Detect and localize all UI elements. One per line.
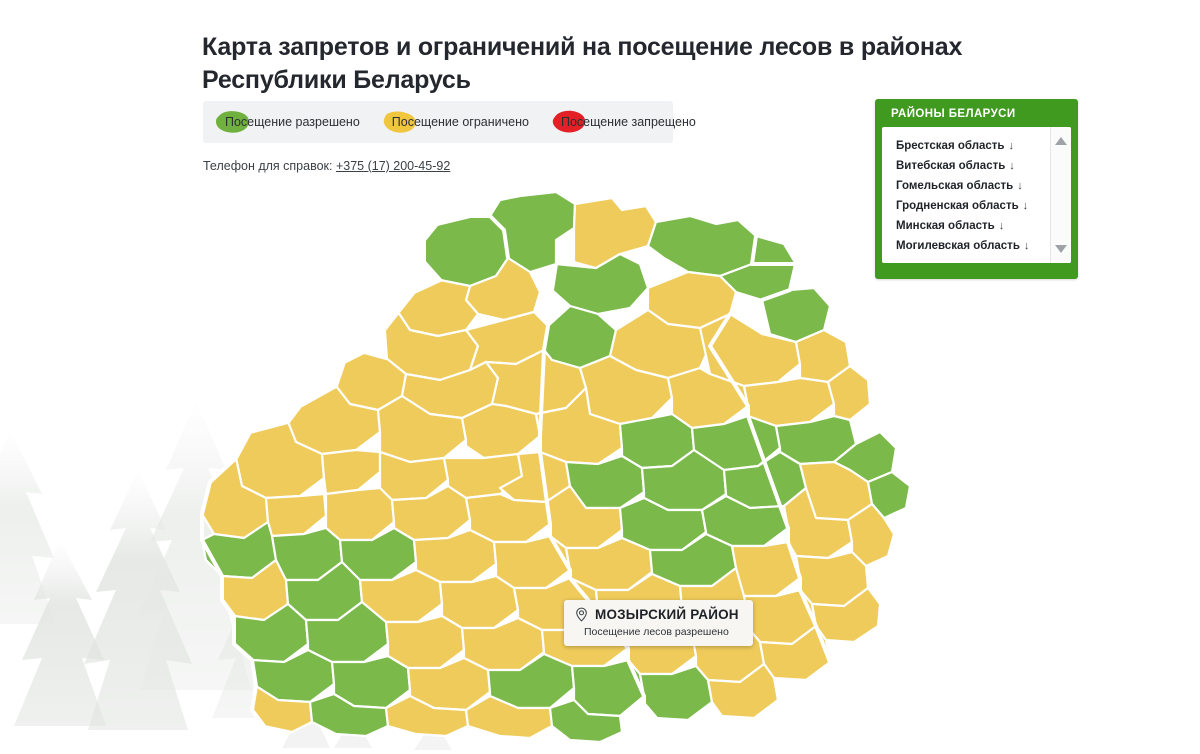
regions-list: Брестская область↓ Витебская область↓ Го… [882, 127, 1071, 256]
legend-item-limited: Посещение ограничено [392, 101, 529, 143]
region-item-minsk[interactable]: Минская область↓ [896, 216, 1071, 236]
contact-phone-link[interactable]: +375 (17) 200-45-92 [336, 159, 450, 173]
legend-panel: Посещение разрешено Посещение ограничено… [203, 101, 673, 143]
chevron-down-icon: ↓ [1024, 240, 1030, 252]
legend-label-forbidden: Посещение запрещено [561, 115, 696, 129]
legend-label-allowed: Посещение разрешено [225, 115, 360, 129]
chevron-down-icon: ↓ [1009, 140, 1015, 152]
page-title: Карта запретов и ограничений на посещени… [202, 31, 1022, 97]
map-district[interactable] [440, 576, 518, 628]
region-item-gomel[interactable]: Гомельская область↓ [896, 176, 1071, 196]
regions-panel-body: Брестская область↓ Витебская область↓ Го… [882, 127, 1071, 263]
region-label-mogilev: Могилевская область [896, 240, 1020, 252]
legend-item-allowed: Посещение разрешено [225, 101, 360, 143]
region-item-brest[interactable]: Брестская область↓ [896, 136, 1071, 156]
chevron-down-icon: ↓ [1009, 160, 1015, 172]
regions-panel: РАЙОНЫ БЕЛАРУСИ Брестская область↓ Витеб… [875, 99, 1078, 279]
chevron-down-icon: ↓ [1017, 180, 1023, 192]
regions-panel-header: РАЙОНЫ БЕЛАРУСИ [882, 99, 1071, 127]
region-label-minsk: Минская область [896, 220, 995, 232]
region-label-grodno: Гродненская область [896, 200, 1019, 212]
chevron-down-icon: ↓ [1023, 200, 1029, 212]
map-pin-icon [574, 607, 589, 622]
contact-phone-prefix: Телефон для справок: [203, 159, 336, 173]
region-item-grodno[interactable]: Гродненская область↓ [896, 196, 1071, 216]
map-district[interactable] [386, 616, 464, 668]
tooltip-title-row: МОЗЫРСКИЙ РАЙОН [574, 607, 739, 622]
map-district[interactable] [322, 450, 380, 494]
scroll-down-arrow-icon[interactable] [1054, 243, 1068, 255]
tooltip-district-name: МОЗЫРСКИЙ РАЙОН [595, 607, 739, 622]
scroll-up-arrow-icon[interactable] [1054, 135, 1068, 147]
legend-item-forbidden: Посещение запрещено [561, 101, 696, 143]
region-item-mogilev[interactable]: Могилевская область↓ [896, 236, 1071, 256]
region-label-gomel: Гомельская область [896, 180, 1013, 192]
map-district[interactable] [462, 404, 540, 458]
chevron-down-icon: ↓ [999, 220, 1005, 232]
region-item-vitebsk[interactable]: Витебская область↓ [896, 156, 1071, 176]
region-label-vitebsk: Витебская область [896, 160, 1005, 172]
contact-phone-line: Телефон для справок: +375 (17) 200-45-92 [203, 159, 450, 173]
forest-restrictions-map-page: Карта запретов и ограничений на посещени… [0, 0, 1200, 754]
map-district[interactable] [648, 216, 756, 276]
regions-list-scrollbar[interactable] [1050, 127, 1071, 263]
map-district[interactable] [494, 536, 570, 588]
tooltip-district-status: Посещение лесов разрешено [574, 626, 739, 638]
legend-label-limited: Посещение ограничено [392, 115, 529, 129]
map-district[interactable] [398, 280, 478, 336]
region-label-brest: Брестская область [896, 140, 1005, 152]
district-tooltip: МОЗЫРСКИЙ РАЙОН Посещение лесов разрешен… [564, 600, 753, 646]
map-district[interactable] [326, 488, 394, 540]
